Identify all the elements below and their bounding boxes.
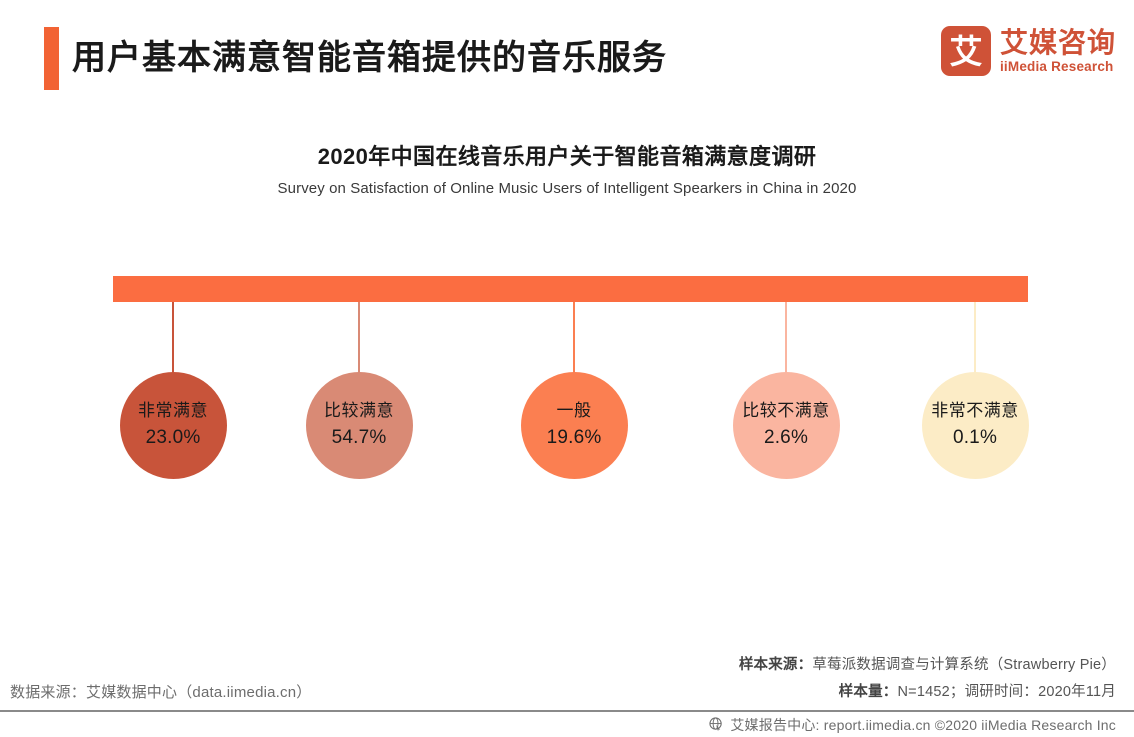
sample-source: 样本来源：草莓派数据调查与计算系统（Strawberry Pie）	[739, 653, 1116, 674]
brand-logo: 艾 艾媒咨询 iiMedia Research	[941, 26, 1116, 76]
bubble-label: 非常满意	[138, 399, 208, 423]
chart-subtitle: Survey on Satisfaction of Online Music U…	[0, 180, 1134, 197]
bubble-connector-line	[358, 302, 360, 374]
bubble-value: 54.7%	[332, 423, 387, 453]
title-accent-bar	[44, 27, 59, 90]
bubble-3[interactable]: 一般19.6%	[521, 372, 628, 479]
page-title: 用户基本满意智能音箱提供的音乐服务	[72, 28, 667, 88]
bubble-label: 非常不满意	[931, 399, 1019, 423]
bubble-4[interactable]: 比较不满意2.6%	[733, 372, 840, 479]
page-header: 用户基本满意智能音箱提供的音乐服务 艾 艾媒咨询 iiMedia Researc…	[0, 0, 1134, 112]
bubble-connector-line	[172, 302, 174, 374]
globe-cursor-icon	[709, 717, 724, 732]
logo-name-en: iiMedia Research	[1000, 58, 1116, 75]
bubble-label: 比较满意	[324, 399, 394, 423]
chart-title: 2020年中国在线音乐用户关于智能音箱满意度调研	[0, 139, 1134, 171]
bubble-connector-line	[974, 302, 976, 374]
sample-size-value: N=1452；调研时间：2020年11月	[897, 684, 1116, 700]
bubble-value: 19.6%	[547, 423, 602, 453]
bubble-value: 0.1%	[953, 423, 997, 453]
sample-source-value: 草莓派数据调查与计算系统（Strawberry Pie）	[812, 657, 1116, 673]
bubble-value: 23.0%	[146, 423, 201, 453]
bubble-label: 比较不满意	[742, 399, 830, 423]
sample-size: 样本量：N=1452；调研时间：2020年11月	[839, 680, 1116, 701]
infographic-page: 用户基本满意智能音箱提供的音乐服务 艾 艾媒咨询 iiMedia Researc…	[0, 0, 1134, 737]
logo-mark-glyph: 艾	[949, 35, 982, 68]
bubble-connector-line	[573, 302, 575, 374]
logo-mark-icon: 艾	[941, 26, 991, 76]
sample-source-label: 样本来源：	[739, 657, 813, 673]
data-source: 数据来源：艾媒数据中心（data.iimedia.cn）	[10, 681, 312, 702]
bubble-1[interactable]: 非常满意23.0%	[120, 372, 227, 479]
sample-size-label: 样本量：	[839, 684, 898, 700]
bubble-connector-line	[785, 302, 787, 374]
footer-bar: 艾媒报告中心: report.iimedia.cn ©2020 iiMedia …	[0, 712, 1134, 737]
logo-name-cn: 艾媒咨询	[1000, 28, 1116, 58]
bubble-label: 一般	[557, 399, 592, 423]
report-center-text: 艾媒报告中心: report.iimedia.cn ©2020 iiMedia …	[730, 715, 1116, 735]
bubble-5[interactable]: 非常不满意0.1%	[922, 372, 1029, 479]
chart-header-bar	[113, 276, 1028, 302]
logo-text: 艾媒咨询 iiMedia Research	[1000, 28, 1116, 75]
bubble-value: 2.6%	[764, 423, 808, 453]
bubble-2[interactable]: 比较满意54.7%	[306, 372, 413, 479]
